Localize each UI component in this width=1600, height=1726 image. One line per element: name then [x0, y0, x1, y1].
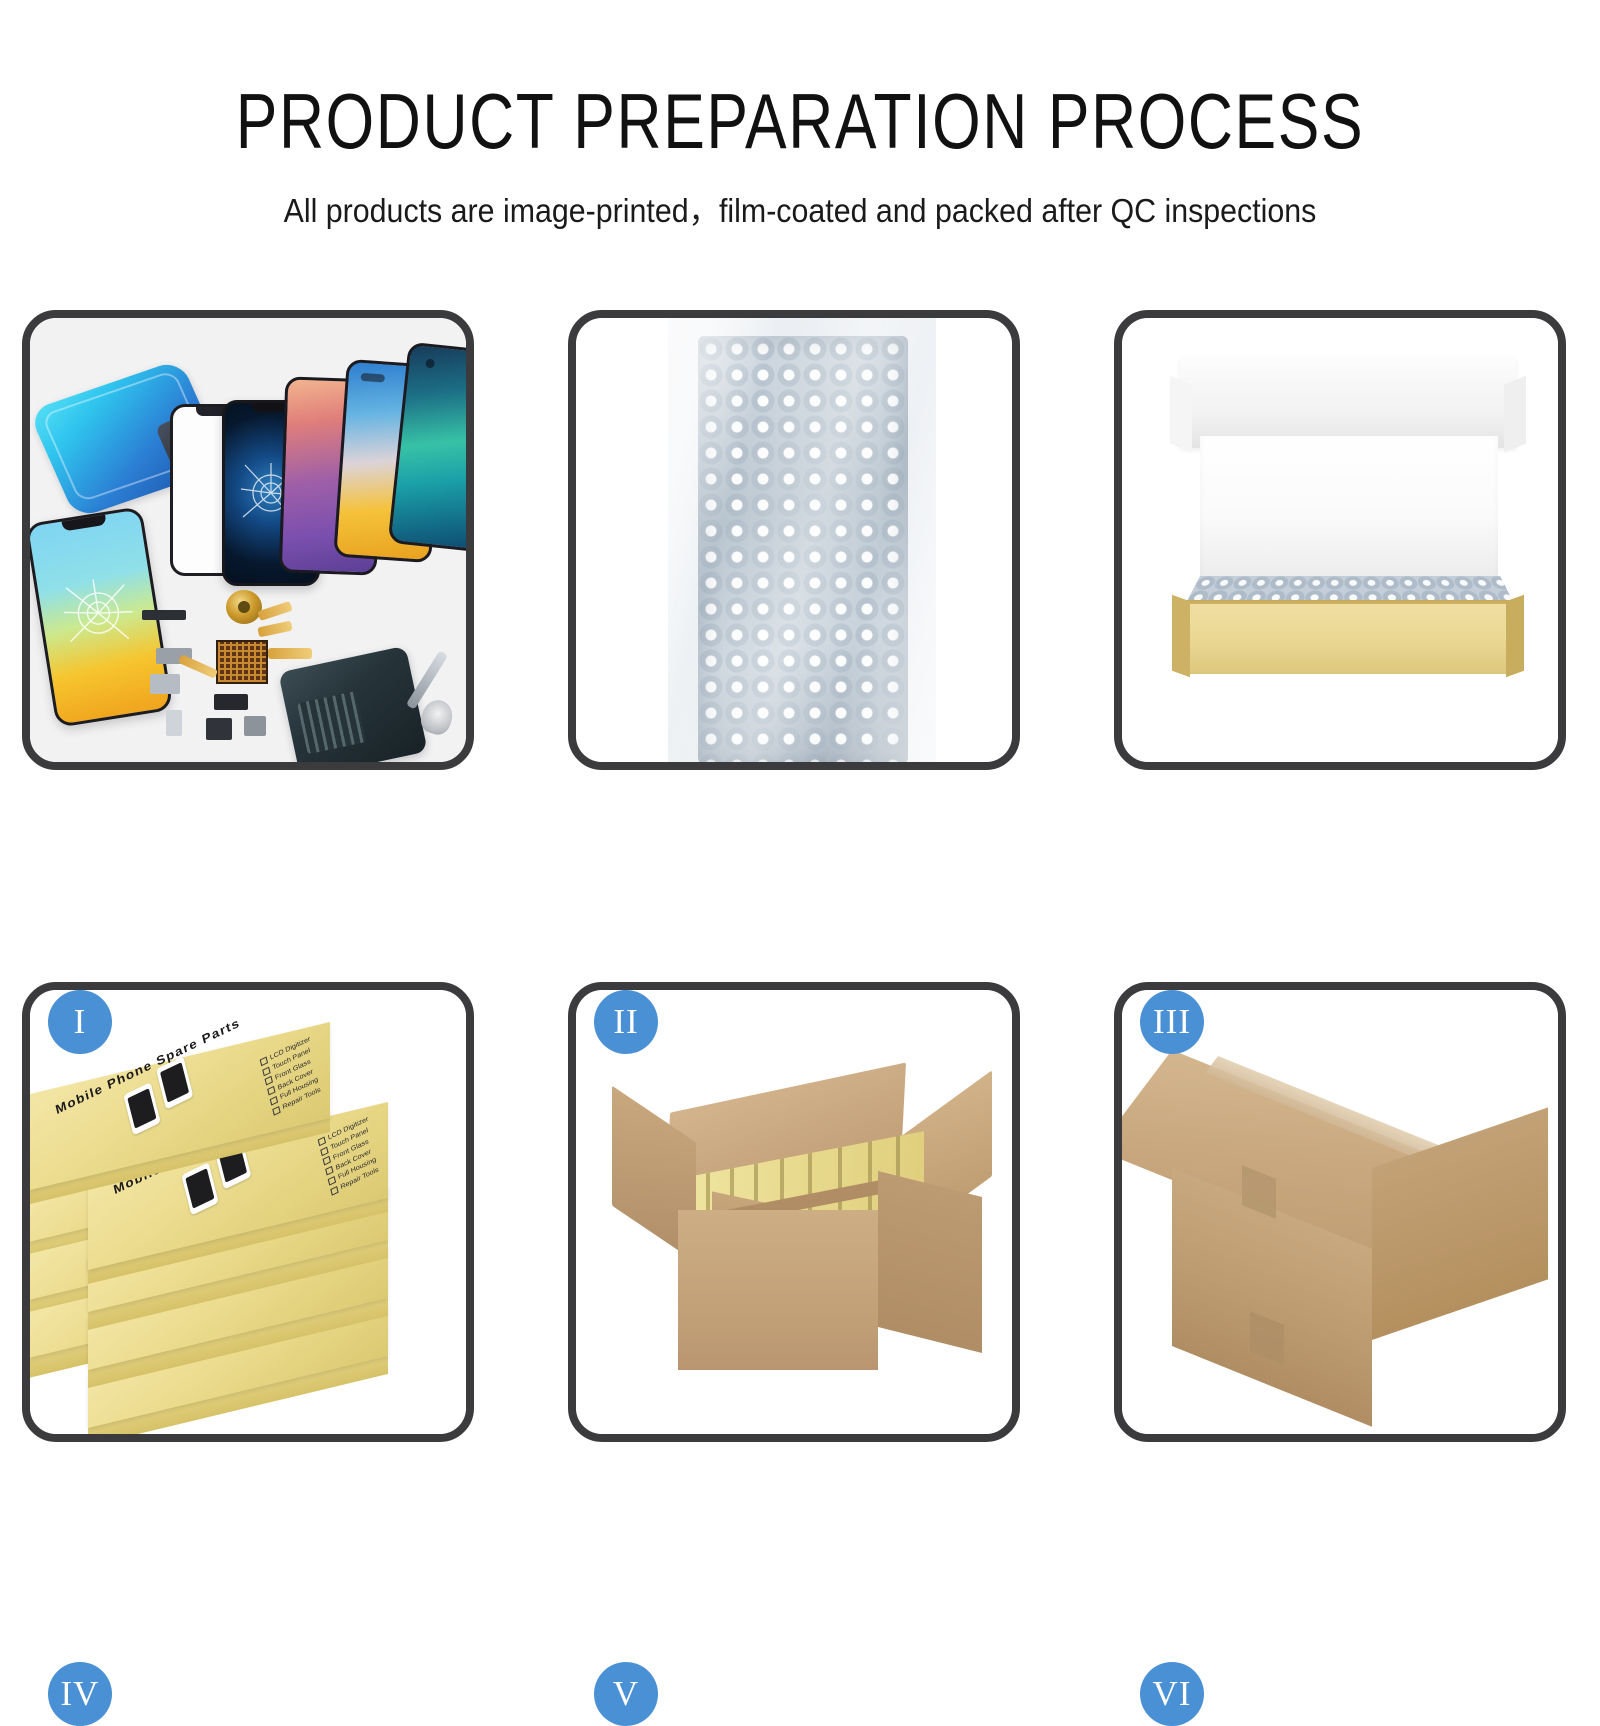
speaker-module [142, 610, 186, 620]
sealed-shipping-carton [1154, 1050, 1550, 1400]
step-2-image [576, 318, 1012, 762]
step-5-image [576, 990, 1012, 1434]
step-4-image: Mobile Phone Spare Parts LCD Digitizer T… [30, 990, 466, 1434]
box-phone-image [123, 1082, 160, 1135]
box-phone-image [181, 1162, 218, 1215]
header: PRODUCT PREPARATION PROCESS All products… [0, 0, 1600, 227]
bubble-wrap-pouch [698, 336, 908, 762]
step-6-image [1122, 990, 1558, 1434]
punch-hole-camera [425, 359, 435, 369]
camera-module [214, 694, 248, 710]
process-step-grid: Mobile Phone Spare Parts LCD Digitizer T… [22, 310, 1578, 1450]
foam-insert [1200, 436, 1498, 584]
mailer-box-base [1180, 604, 1516, 674]
step-panel-3 [1114, 310, 1566, 770]
plastic-bag [668, 318, 936, 762]
carton-front-panel [678, 1210, 878, 1370]
step-1-image [30, 318, 466, 762]
wireless-charging-coil [226, 590, 262, 624]
small-connector [150, 674, 180, 694]
retail-box-labelled: Mobile Phone Spare Parts LCD Digitizer T… [30, 1058, 330, 1154]
box-phone-image [156, 1056, 193, 1109]
step-3-image [1122, 318, 1558, 762]
step-badge-1: I [48, 990, 112, 1054]
crack-lines-icon [57, 572, 139, 654]
mailer-box-lid [1180, 356, 1516, 448]
step-panel-2 [568, 310, 1020, 770]
earpiece-mesh [244, 716, 266, 736]
flex-cable [257, 621, 292, 638]
box-checklist: LCD Digitizer Touch Panel Front Glass Ba… [259, 1035, 324, 1119]
flex-cable [268, 648, 312, 659]
retail-box-stack: Mobile Phone Spare Parts LCD Digitizer T… [30, 1018, 466, 1434]
infographic-page: PRODUCT PREPARATION PROCESS All products… [0, 0, 1600, 1600]
page-title: PRODUCT PREPARATION PROCESS [160, 82, 1440, 160]
page-subtitle: All products are image-printed，film-coat… [64, 194, 1536, 227]
phone-back-housing [278, 646, 428, 762]
step-badge-4: IV [48, 1662, 112, 1726]
sim-tray [166, 710, 182, 736]
phone-notch [62, 515, 107, 532]
step-badge-2: II [594, 990, 658, 1054]
open-shipping-carton [616, 1060, 986, 1390]
ic-chip [216, 640, 268, 684]
step-panel-1 [22, 310, 474, 770]
step-badge-3: III [1140, 990, 1204, 1054]
vibration-motor [206, 718, 232, 740]
step-badge-5: V [594, 1662, 658, 1726]
flex-cable [178, 654, 218, 678]
step-badge-6: VI [1140, 1662, 1204, 1726]
flex-cable [257, 601, 292, 621]
carton-side-panel [878, 1171, 982, 1353]
punch-hole-camera [361, 373, 385, 383]
